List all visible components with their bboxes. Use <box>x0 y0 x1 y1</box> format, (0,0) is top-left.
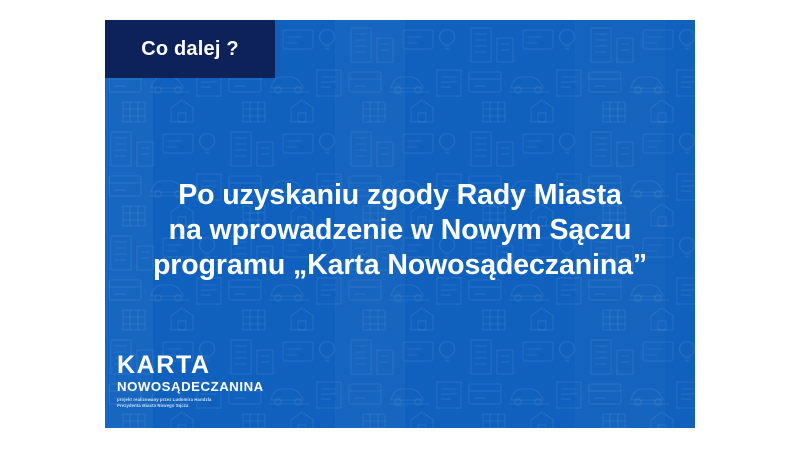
headline-block: Po uzyskaniu zgody Rady Miasta na wprowa… <box>105 178 695 283</box>
headline-line-2: na wprowadzenie w Nowym Sączu <box>105 213 695 248</box>
logo-fineprint: projekt realizowany przez Ludomira Handz… <box>117 397 264 408</box>
slide-title-text: Co dalej ? <box>141 38 239 61</box>
logo-fineprint-line-2: Prezydenta Miasta Nowego Sącza <box>117 403 264 408</box>
logo-title-karta: KARTA <box>117 353 264 378</box>
slide-canvas: Co dalej ? Po uzyskaniu zgody Rady Miast… <box>0 0 800 450</box>
presentation-slide: Co dalej ? Po uzyskaniu zgody Rady Miast… <box>105 20 695 428</box>
logo-subtitle-nowosadeczanina: NOWOSĄDECZANINA <box>117 379 264 394</box>
slide-title-banner: Co dalej ? <box>105 20 275 78</box>
headline-line-1: Po uzyskaniu zgody Rady Miasta <box>105 178 695 213</box>
karta-nowosadeczanina-logo: KARTA NOWOSĄDECZANINA projekt realizowan… <box>117 353 264 408</box>
headline-line-3: programu „Karta Nowosądeczanina” <box>105 248 695 283</box>
